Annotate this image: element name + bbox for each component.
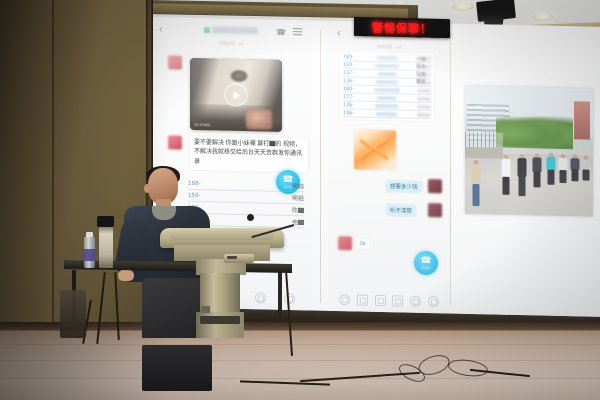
chat-bubble: 听不清楚 [386, 204, 416, 217]
downlight-icon [452, 2, 474, 11]
photo-person [469, 160, 483, 206]
photo-person [581, 156, 590, 181]
avatar [428, 203, 442, 217]
video-icon[interactable] [392, 295, 403, 306]
podium-plate [200, 316, 240, 324]
voice-message-row: 2s [338, 236, 370, 251]
banner-text: 警惕保聊！ [372, 19, 432, 36]
contact-number: 189- [343, 54, 354, 60]
photo-person [570, 155, 580, 182]
contact-side-labels: 一妹爱永兄雨董妮 [414, 57, 428, 86]
slide-middle-panel: ‹ 手机在线 · 4G ☎ 189- 159- 137- 136- 180- 1… [328, 21, 450, 314]
control-device [224, 254, 254, 263]
panel-divider [320, 29, 321, 303]
photo-person [558, 154, 568, 183]
podium-logo [201, 306, 210, 313]
floor-speaker [60, 290, 86, 338]
wechat-badge-icon [204, 27, 210, 33]
contact-number: 136- [343, 110, 354, 116]
contact-name: 啊姐 [292, 193, 304, 202]
photo-curb [465, 147, 503, 158]
play-icon[interactable] [225, 83, 248, 107]
led-warning-banner: 警惕保聊！ [354, 17, 450, 38]
chat-toolbar [328, 294, 450, 308]
floor [0, 330, 600, 400]
contact-number: 136- [343, 78, 354, 84]
microphone-head [247, 214, 254, 221]
video-person-blur [246, 109, 272, 130]
emoji-icon[interactable] [410, 296, 421, 307]
call-bubble[interactable]: ☎ 12:55 [414, 251, 438, 276]
avatar [338, 236, 352, 250]
photo-person [531, 153, 542, 187]
chat-title: 手机在线 · 4G [186, 21, 276, 48]
contact-icon[interactable] [284, 293, 295, 304]
contact-number: 137- [343, 70, 354, 76]
contact-list-card: 189- 159- 137- 136- 180- 177- 135- 136- … [340, 51, 434, 121]
campus-photo [465, 86, 593, 217]
webcam [97, 216, 114, 227]
contact-icon[interactable] [428, 296, 439, 307]
slide-right-panel [456, 24, 600, 317]
photo-building-right [574, 101, 591, 140]
water-bottle [84, 236, 95, 268]
presenter-hand [118, 270, 134, 281]
avatar [168, 55, 182, 69]
screenshot-root: ‹ 手机在线 · 4G ☎ 10.07MB [0, 0, 600, 400]
panel-divider [450, 32, 451, 306]
contact-number: 177- [343, 94, 354, 100]
video-size-label: 10.07MB [194, 122, 210, 127]
phone-icon[interactable]: ☎ [276, 28, 286, 37]
chat-subtitle: 手机在线 · 4G [344, 43, 434, 51]
laptop [99, 224, 113, 268]
photo-trees [496, 112, 573, 150]
video-message-thumbnail[interactable]: 10.07MB [190, 58, 282, 132]
photo-person [515, 154, 528, 196]
chevron-left-icon[interactable]: ‹ [159, 23, 163, 35]
list-item: 136- [343, 109, 431, 119]
bottle-cap [86, 232, 93, 237]
voice-message-duration[interactable]: 2s [355, 238, 370, 248]
menu-icon[interactable] [293, 28, 302, 35]
floor-seam [0, 330, 600, 331]
call-time: 12:55 [422, 266, 431, 270]
bottle-label [84, 249, 95, 261]
presenter-ear [144, 184, 150, 193]
chevron-left-icon[interactable]: ‹ [337, 27, 341, 39]
mic-icon[interactable] [339, 294, 350, 305]
contact-number: 180- [343, 86, 354, 92]
camera-icon[interactable] [375, 295, 386, 306]
photo-person [499, 154, 512, 194]
text-message-bubble: 要不要解决 你跟小妹裸 聊打▇的 视频，不解决我就移交给后台天天去群发你通讯录 [190, 136, 308, 172]
microphone [250, 206, 294, 232]
chat-header: ‹ 手机在线 · 4G ☎ [150, 17, 312, 47]
downlight-icon [533, 13, 553, 21]
contact-name: 啊姑 [292, 181, 304, 190]
floor-monitor [142, 345, 212, 391]
avatar [428, 179, 442, 193]
contact-number: 135- [343, 102, 354, 108]
contact-name-redacted [212, 27, 258, 35]
contact-number: 159- [343, 62, 354, 68]
avatar [168, 135, 182, 149]
ceiling-fan-icon [229, 69, 249, 83]
photo-person [545, 153, 556, 185]
image-icon[interactable] [357, 295, 368, 306]
phone-icon: ☎ [420, 256, 431, 265]
podium [160, 228, 284, 338]
chat-bubble: 想要多少钱 [386, 180, 422, 193]
image-message-thumbnail[interactable] [354, 129, 396, 170]
chat-subtitle: 手机在线 · 4G [186, 40, 276, 48]
